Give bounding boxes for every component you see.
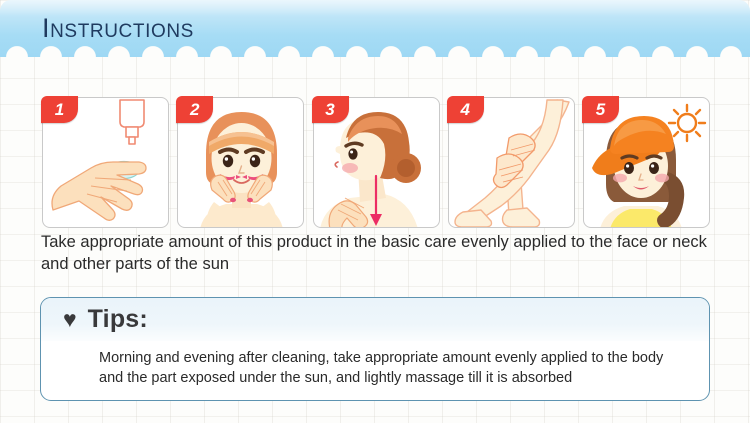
step-panel-1[interactable]: 1 <box>42 97 169 228</box>
instructions-paragraph: Take appropriate amount of this product … <box>41 231 716 275</box>
tips-header: ♥ Tips: <box>41 298 709 341</box>
tips-panel: ♥ Tips: Morning and evening after cleani… <box>40 297 710 401</box>
step-badge-2: 2 <box>176 96 213 123</box>
tips-title: Tips: <box>88 305 148 334</box>
step-panel-3[interactable]: 3 <box>313 97 440 228</box>
step-panel-4[interactable]: 4 <box>448 97 575 228</box>
step-panel-list: 1 <box>42 97 710 228</box>
page-title: Instructions <box>42 13 194 44</box>
tips-body-text: Morning and evening after cleaning, take… <box>41 341 709 388</box>
step-badge-3: 3 <box>312 96 349 123</box>
step-panel-2[interactable]: 2 <box>177 97 304 228</box>
heart-icon: ♥ <box>63 308 77 331</box>
step-badge-5: 5 <box>582 96 619 123</box>
step-panel-5[interactable]: 5 <box>583 97 710 228</box>
step-badge-1: 1 <box>41 96 78 123</box>
page-header: Instructions <box>0 0 750 57</box>
step-badge-4: 4 <box>447 96 484 123</box>
header-scallop-edge <box>0 44 750 57</box>
